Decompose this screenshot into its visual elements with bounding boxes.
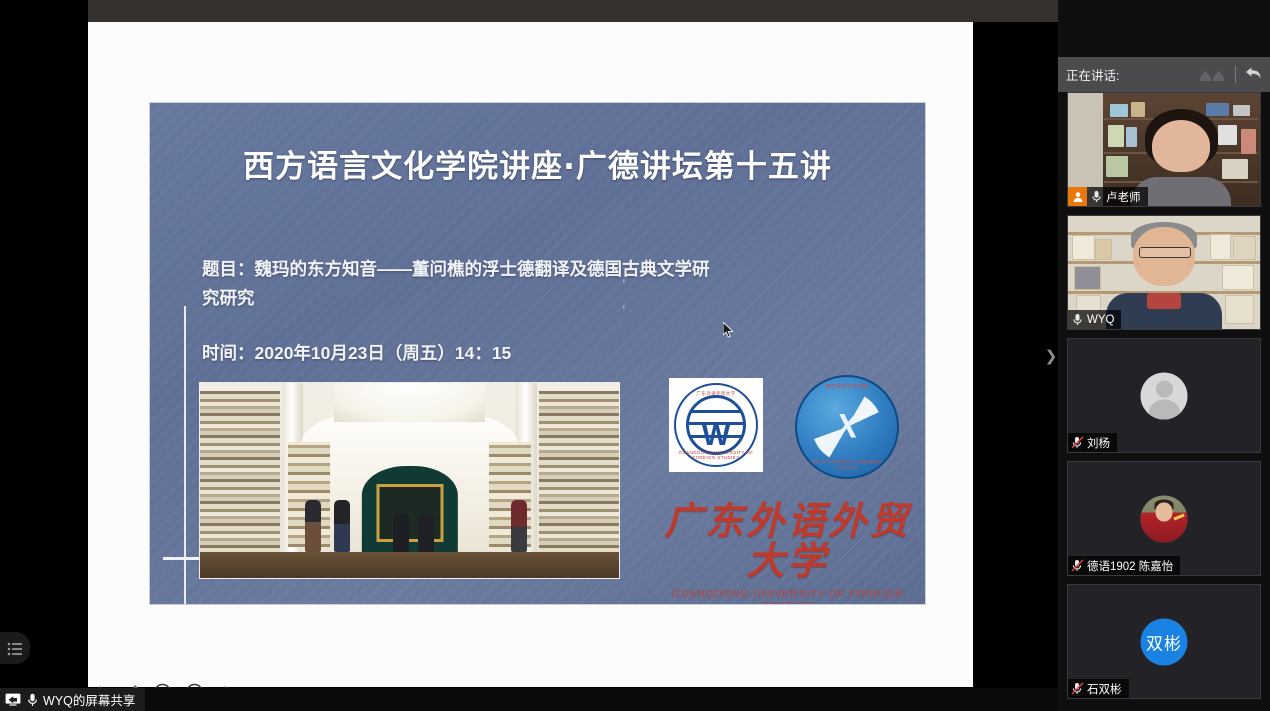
university-wordmark-english: GUANGDONG UNIVERSITY OF FOREIGN STUDIES xyxy=(660,588,915,604)
mic-muted-icon xyxy=(1068,433,1087,452)
participant-nameplate: 石双彬 xyxy=(1068,679,1129,698)
participant-nameplate: 卢老师 xyxy=(1068,187,1148,206)
photo-person xyxy=(418,514,434,552)
list-menu-icon xyxy=(7,641,24,656)
back-arrow-icon[interactable] xyxy=(1245,66,1262,84)
participant-tile[interactable]: 刘杨 xyxy=(1067,338,1261,453)
participants-panel: 正在讲话: xyxy=(1058,0,1270,711)
photo-person xyxy=(305,500,321,552)
share-top-strip xyxy=(0,0,1058,22)
participant-name: 德语1902 陈嘉怡 xyxy=(1087,558,1173,574)
slide-title: 西方语言文化学院讲座·广德讲坛第十五讲 xyxy=(150,141,925,186)
faculty-emblem-arc-top: 西方语言文化学院 xyxy=(797,383,897,390)
taskbar: WYQ的屏幕共享 xyxy=(0,688,1058,711)
participant-nameplate: 德语1902 陈嘉怡 xyxy=(1068,556,1180,575)
screen-share-icon xyxy=(4,693,21,707)
faculty-emblem-letter: X xyxy=(836,408,859,447)
screen-share-taskbar-label: WYQ的屏幕共享 xyxy=(43,690,135,709)
share-top-strip-left-fill xyxy=(0,0,88,22)
powerpoint-canvas: 西方语言文化学院讲座·广德讲坛第十五讲 题目：魏玛的东方知音——董问樵的浮士德翻… xyxy=(88,22,973,687)
avatar-initials: 双彬 xyxy=(1146,629,1182,654)
participant-tiles: 卢老师 xyxy=(1058,92,1270,707)
header-separator xyxy=(1235,66,1236,83)
photo-person xyxy=(334,500,350,552)
slide: 西方语言文化学院讲座·广德讲坛第十五讲 题目：魏玛的东方知音——董问樵的浮士德翻… xyxy=(150,103,925,604)
meeting-screen: 西方语言文化学院讲座·广德讲坛第十五讲 题目：魏玛的东方知音——董问樵的浮士德翻… xyxy=(0,0,1270,711)
university-wordmark: 广东外语外贸大学 GUANGDONG UNIVERSITY OF FOREIGN… xyxy=(660,503,915,604)
participant-nameplate: WYQ xyxy=(1068,310,1121,329)
mouse-cursor xyxy=(723,322,734,338)
mic-muted-icon xyxy=(1068,556,1087,575)
participant-tile[interactable]: 卢老师 xyxy=(1067,92,1261,207)
photo-skylight xyxy=(334,383,485,422)
mic-on-icon xyxy=(26,692,38,707)
chevron-right-icon[interactable]: ❯ xyxy=(1044,344,1058,368)
gdufs-emblem-logo: 广东外语外贸大学 W GUANGDONG UNIVERSITY OF FOREI… xyxy=(669,378,763,472)
participant-nameplate: 刘杨 xyxy=(1068,433,1117,452)
host-person-icon xyxy=(1068,187,1087,206)
shared-screen-area: 西方语言文化学院讲座·广德讲坛第十五讲 题目：魏玛的东方知音——董问樵的浮士德翻… xyxy=(0,22,1058,688)
gdufs-emblem-arc-bottom: GUANGDONG UNIVERSITY OF FOREIGN STUDIES xyxy=(676,450,756,460)
slide-time-line: 时间：2020年10月23日（周五）14：15 xyxy=(202,340,511,365)
participant-tile[interactable]: WYQ xyxy=(1067,215,1261,330)
photo-floor xyxy=(200,552,619,578)
participant-name: WYQ xyxy=(1087,314,1114,326)
avatar xyxy=(1141,495,1188,542)
participants-list-toggle-button[interactable] xyxy=(0,632,30,664)
photo-person xyxy=(511,500,527,552)
mic-on-icon xyxy=(1087,187,1106,206)
photo-person xyxy=(393,514,409,552)
faculty-emblem-arc-bottom: Faculty of European Languages and Cultur… xyxy=(797,459,897,471)
participant-name: 卢老师 xyxy=(1106,189,1141,205)
participant-name: 石双彬 xyxy=(1087,681,1122,697)
mic-on-icon xyxy=(1068,310,1087,329)
photo-shelf-left xyxy=(200,391,280,570)
university-wordmark-chinese: 广东外语外贸大学 xyxy=(660,503,915,583)
photo-shelf-right xyxy=(539,391,619,570)
participant-tile[interactable]: 双彬 石双彬 xyxy=(1067,584,1261,699)
active-speaker-label: 正在讲话: xyxy=(1066,65,1119,84)
mic-muted-icon xyxy=(1068,679,1087,698)
slide-decor-tick: , xyxy=(622,295,626,310)
slide-decor-tick: , xyxy=(622,269,626,284)
chevrons-collapse-icon[interactable] xyxy=(1198,68,1226,82)
participant-name: 刘杨 xyxy=(1087,435,1110,451)
avatar xyxy=(1141,372,1188,419)
screen-share-taskbar-item[interactable]: WYQ的屏幕共享 xyxy=(0,688,145,711)
slide-subject-line: 题目：魏玛的东方知音——董问樵的浮士德翻译及德国古典文学研究研究 xyxy=(202,255,712,313)
avatar: 双彬 xyxy=(1141,618,1188,665)
library-photo xyxy=(199,382,620,579)
participant-tile[interactable]: 德语1902 陈嘉怡 xyxy=(1067,461,1261,576)
active-speaker-header: 正在讲话: xyxy=(1058,57,1270,92)
faculty-emblem-logo: 西方语言文化学院 X Faculty of European Languages… xyxy=(795,375,899,479)
gdufs-emblem-letter: W xyxy=(702,421,730,451)
